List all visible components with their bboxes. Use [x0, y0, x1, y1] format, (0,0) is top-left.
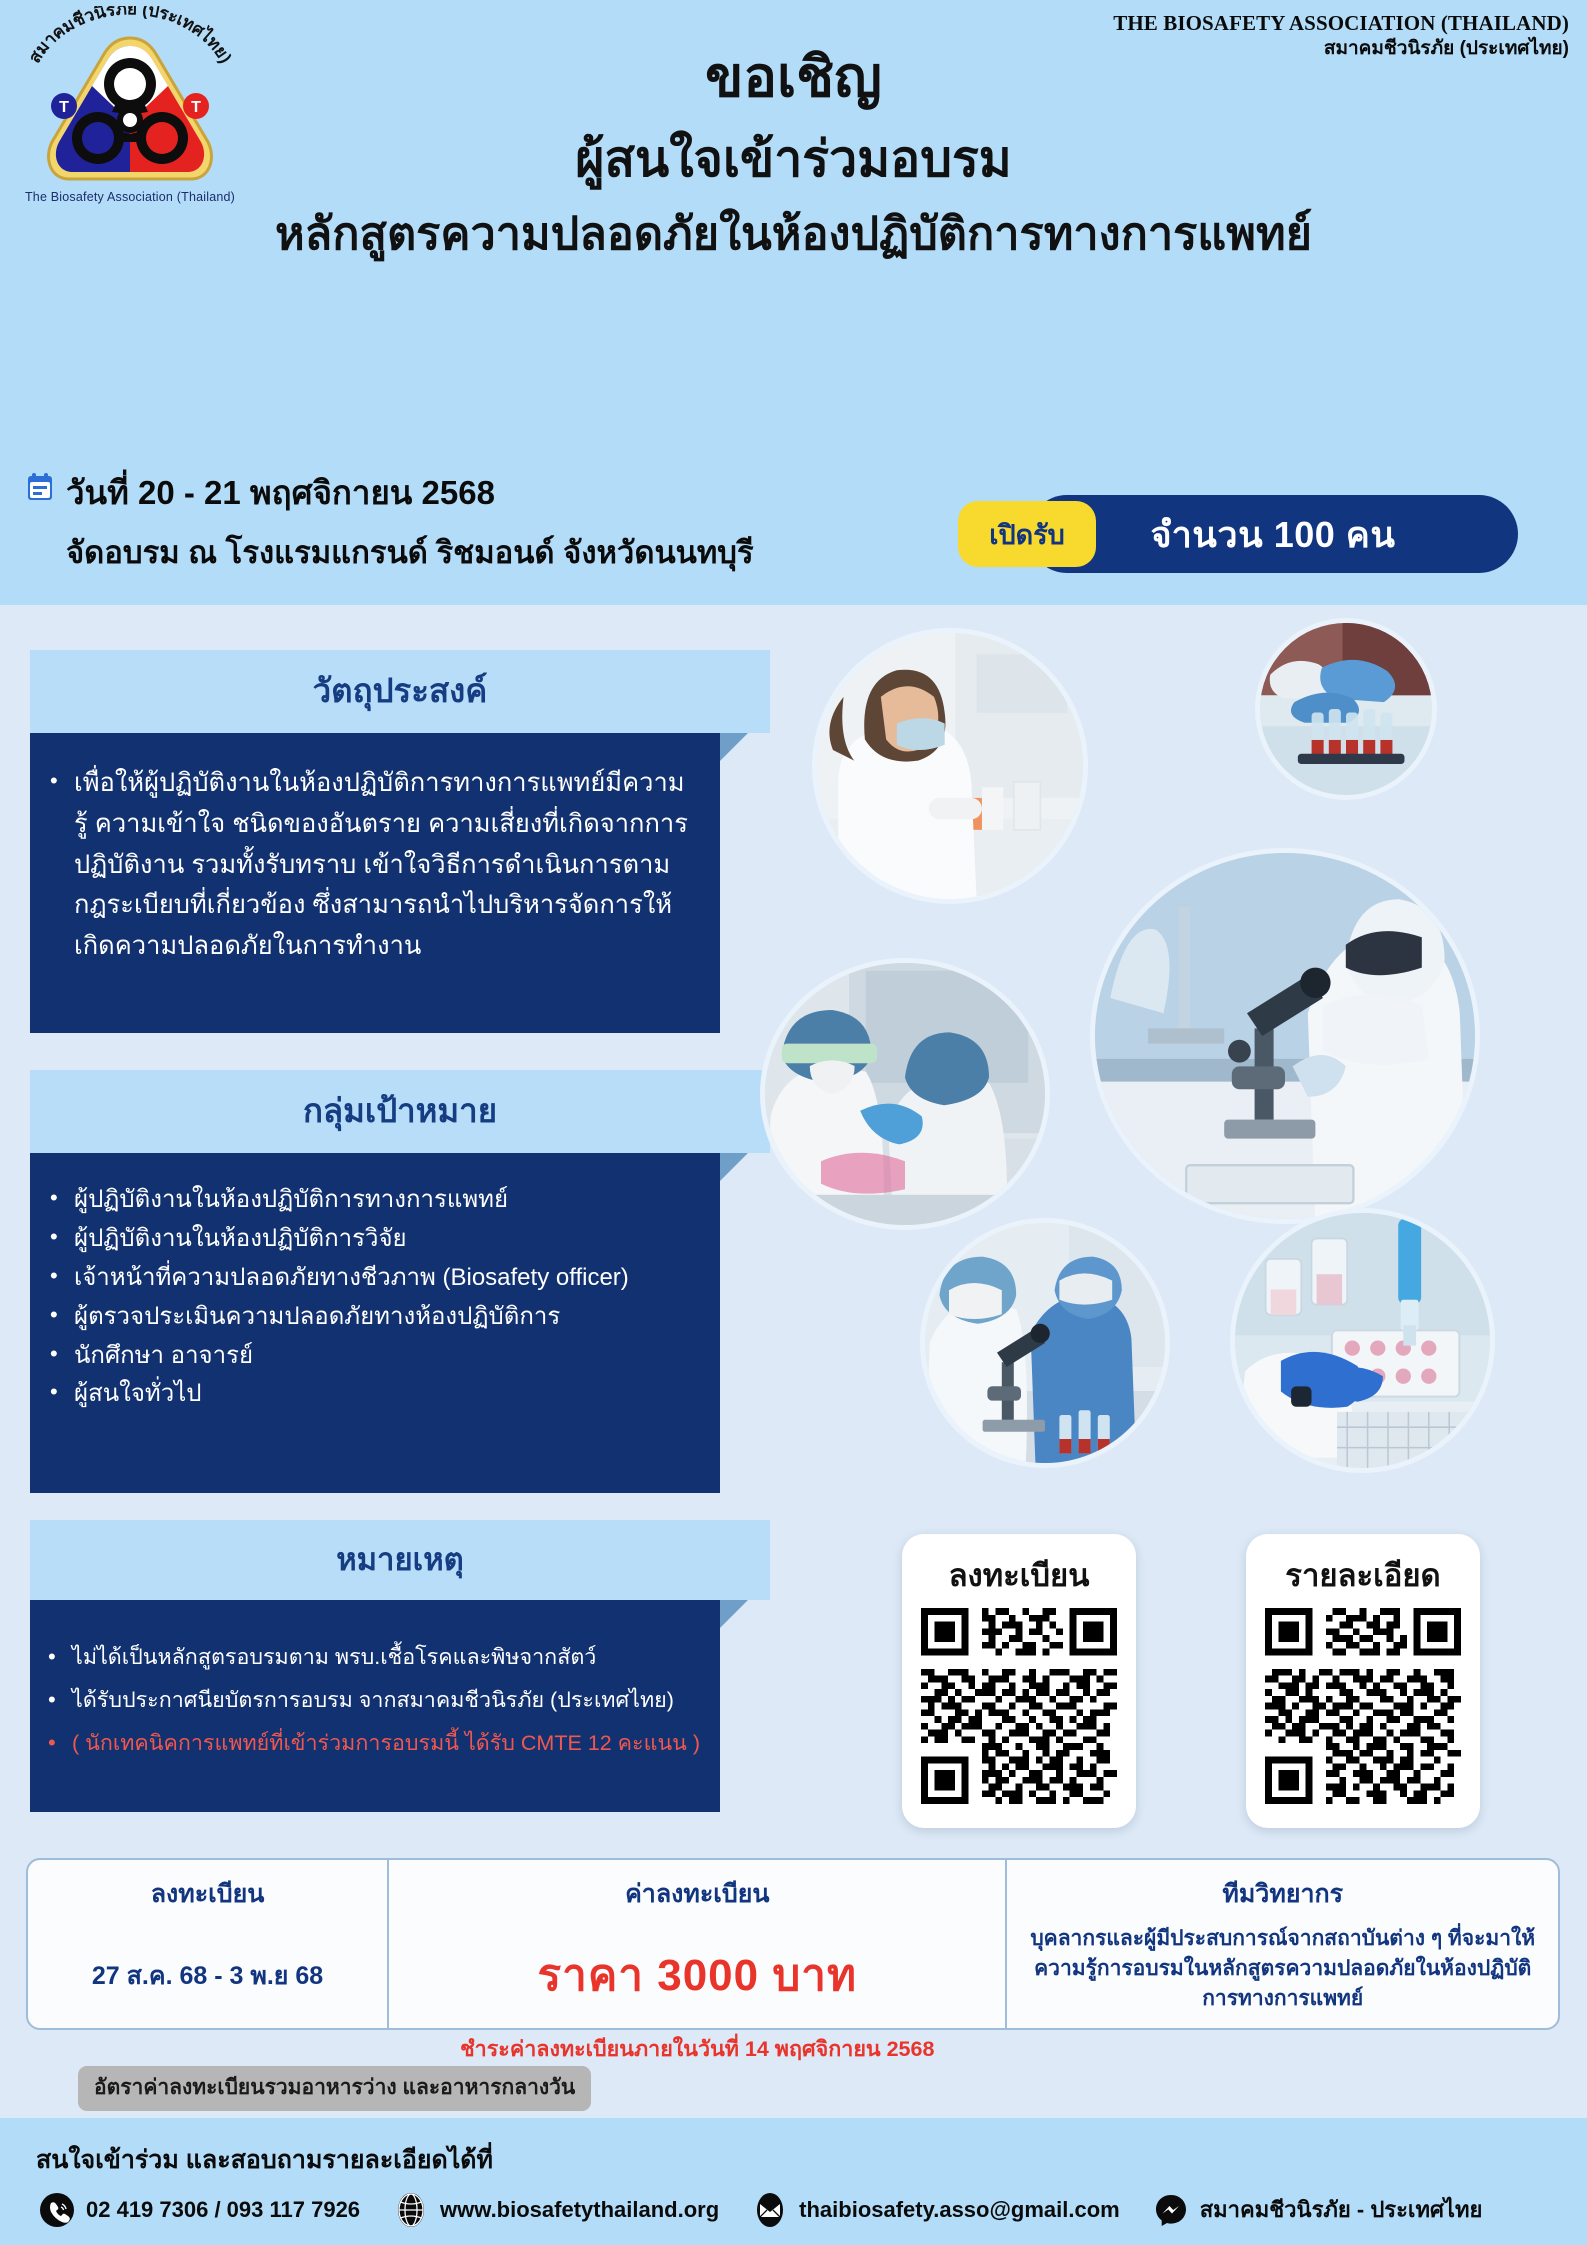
contact-messenger-text: สมาคมชีวนิรภัย - ประเทศไทย: [1200, 2192, 1483, 2227]
target-group-list: ผู้ปฏิบัติงานในห้องปฏิบัติการทางการแพทย์…: [44, 1181, 702, 1414]
contact-website-text: www.biosafetythailand.org: [440, 2197, 719, 2223]
list-item: ผู้ตรวจประเมินความปลอดภัยทางห้องปฏิบัติก…: [44, 1298, 702, 1337]
registration-period-title: ลงทะเบียน: [44, 1874, 371, 1914]
target-group-panel: กลุ่มเป้าหมาย ผู้ปฏิบัติงานในห้องปฏิบัติ…: [30, 1070, 770, 1493]
speakers-column: ทีมวิทยากร บุคลากรและผู้มีประสบการณ์จากส…: [1005, 1860, 1558, 2028]
registration-fee-title: ค่าลงทะเบียน: [405, 1874, 989, 1914]
target-group-body: ผู้ปฏิบัติงานในห้องปฏิบัติการทางการแพทย์…: [30, 1153, 720, 1493]
invite-subheading: ผู้สนใจเข้าร่วมอบรม: [0, 126, 1587, 194]
panel-fold-corner: [720, 1153, 748, 1181]
qr-card-details[interactable]: รายละเอียด: [1246, 1534, 1480, 1828]
notes-list: ไม่ได้เป็นหลักสูตรอบรมตาม พรบ.เชื้อโรคแล…: [42, 1636, 706, 1765]
target-group-title: กลุ่มเป้าหมาย: [30, 1070, 770, 1153]
contact-footer-title: สนใจเข้าร่วม และสอบถามรายละเอียดได้ที่: [36, 2140, 493, 2180]
list-item: ผู้ปฏิบัติงานในห้องปฏิบัติการทางการแพทย์: [44, 1181, 702, 1220]
panel-fold-corner: [720, 1600, 748, 1628]
contact-email[interactable]: thaibiosafety.asso@gmail.com: [753, 2193, 1120, 2227]
event-venue: จัดอบรม ณ โรงแรมแกรนด์ ริชมอนด์ จังหวัดน…: [66, 527, 754, 577]
lab-photo-two-technicians: [920, 1218, 1170, 1468]
contact-messenger[interactable]: สมาคมชีวนิรภัย - ประเทศไทย: [1154, 2192, 1483, 2227]
list-item: เจ้าหน้าที่ความปลอดภัยทางชีวภาพ (Biosafe…: [44, 1259, 702, 1298]
objectives-text: เพื่อให้ผู้ปฏิบัติงานในห้องปฏิบัติการทาง…: [44, 763, 696, 967]
notes-panel: หมายเหตุ ไม่ได้เป็นหลักสูตรอบรมตาม พรบ.เ…: [30, 1520, 770, 1812]
lab-photo-biosafety-cabinet: [760, 958, 1050, 1230]
lab-photo-scientist-bench: [812, 628, 1088, 904]
list-item: ไม่ได้เป็นหลักสูตรอบรมตาม พรบ.เชื้อโรคแล…: [42, 1636, 706, 1679]
panel-fold-corner: [720, 733, 748, 761]
qr-details-code[interactable]: [1265, 1608, 1461, 1804]
lab-photo-blood-tubes: [1255, 618, 1437, 800]
calendar-icon: [26, 472, 54, 502]
contact-phone[interactable]: 02 419 7306 / 093 117 7926: [40, 2193, 360, 2227]
meal-inclusion-note: อัตราค่าลงทะเบียนรวมอาหารว่าง และอาหารกล…: [78, 2066, 591, 2111]
list-item: นักศึกษา อาจารย์: [44, 1337, 702, 1376]
qr-card-register[interactable]: ลงทะเบียน: [902, 1534, 1136, 1828]
capacity-pill: จำนวน 100 คน: [1028, 495, 1518, 573]
contact-list: 02 419 7306 / 093 117 7926 www.biosafety…: [40, 2192, 1482, 2227]
event-date: วันที่ 20 - 21 พฤศจิกายน 2568: [66, 466, 495, 519]
objectives-body: เพื่อให้ผู้ปฏิบัติงานในห้องปฏิบัติการทาง…: [30, 733, 720, 1033]
list-item-cmte: ( นักเทคนิคการแพทย์ที่เข้าร่วมการอบรมนี้…: [42, 1722, 706, 1765]
registration-fee-value: ราคา 3000 บาท: [405, 1940, 989, 2010]
notes-body: ไม่ได้เป็นหลักสูตรอบรมตาม พรบ.เชื้อโรคแล…: [30, 1600, 720, 1812]
photo-collage: [760, 618, 1580, 1518]
speakers-text: บุคลากรและผู้มีประสบการณ์จากสถาบันต่าง ๆ…: [1023, 1924, 1542, 2013]
capacity-text: จำนวน 100 คน: [1150, 506, 1395, 563]
registration-summary: ลงทะเบียน 27 ส.ค. 68 - 3 พ.ย 68 ค่าลงทะเ…: [26, 1858, 1560, 2030]
lab-photo-pipette-plate: [1230, 1208, 1495, 1473]
qr-register-label: ลงทะเบียน: [949, 1550, 1090, 1600]
registration-period-column: ลงทะเบียน 27 ส.ค. 68 - 3 พ.ย 68: [28, 1860, 387, 2028]
qr-details-label: รายละเอียด: [1285, 1550, 1440, 1600]
qr-register-code[interactable]: [921, 1608, 1117, 1804]
contact-footer: สนใจเข้าร่วม และสอบถามรายละเอียดได้ที่ 0…: [0, 2118, 1587, 2245]
contact-email-text: thaibiosafety.asso@gmail.com: [799, 2197, 1120, 2223]
email-icon: [753, 2193, 787, 2227]
phone-icon: [40, 2193, 74, 2227]
messenger-icon: [1154, 2193, 1188, 2227]
notes-title: หมายเหตุ: [30, 1520, 770, 1600]
payment-deadline: ชำระค่าลงทะเบียนภายในวันที่ 14 พฤศจิกายน…: [405, 2032, 989, 2066]
capacity-open-label: เปิดรับ: [989, 513, 1065, 556]
contact-website[interactable]: www.biosafetythailand.org: [394, 2193, 719, 2227]
registration-fee-column: ค่าลงทะเบียน ราคา 3000 บาท ชำระค่าลงทะเบ…: [387, 1860, 1005, 2028]
organization-name-en: THE BIOSAFETY ASSOCIATION (THAILAND): [1113, 10, 1569, 37]
globe-icon: [394, 2193, 428, 2227]
contact-phone-text: 02 419 7306 / 093 117 7926: [86, 2197, 360, 2223]
capacity-block: จำนวน 100 คน เปิดรับ: [958, 495, 1518, 573]
objectives-panel: วัตถุประสงค์ เพื่อให้ผู้ปฏิบัติงานในห้อง…: [30, 650, 770, 1033]
lab-photo-microscope-ppe: [1090, 848, 1480, 1224]
list-item: ผู้สนใจทั่วไป: [44, 1375, 702, 1414]
list-item: ได้รับประกาศนียบัตรการอบรม จากสมาคมชีวนิ…: [42, 1679, 706, 1722]
poster-title-block: ขอเชิญ ผู้สนใจเข้าร่วมอบรม หลักสูตรความป…: [0, 42, 1587, 264]
registration-period-value: 27 ส.ค. 68 - 3 พ.ย 68: [44, 1956, 371, 1996]
objectives-title: วัตถุประสงค์: [30, 650, 770, 733]
course-title: หลักสูตรความปลอดภัยในห้องปฏิบัติการทางกา…: [0, 204, 1587, 265]
invite-heading: ขอเชิญ: [0, 42, 1587, 112]
header-band: สมาคมชีวนิรภัย (ประเทศไทย): [0, 0, 1587, 605]
capacity-open-badge: เปิดรับ: [958, 501, 1096, 567]
list-item: ผู้ปฏิบัติงานในห้องปฏิบัติการวิจัย: [44, 1220, 702, 1259]
event-datetime-block: วันที่ 20 - 21 พฤศจิกายน 2568 จัดอบรม ณ …: [26, 466, 754, 577]
speakers-title: ทีมวิทยากร: [1023, 1874, 1542, 1914]
